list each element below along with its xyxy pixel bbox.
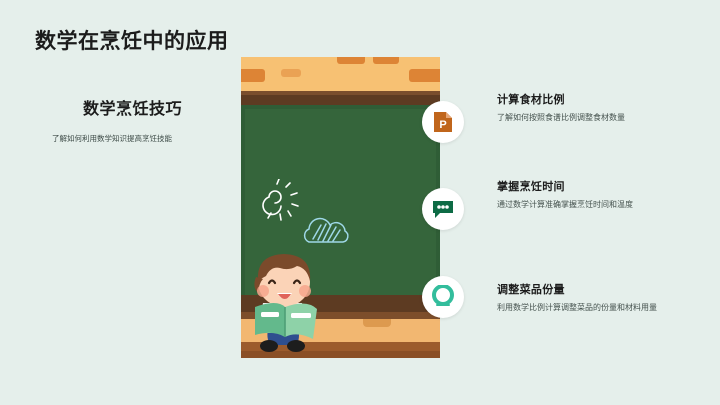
left-panel-description: 了解如何利用数学知识提高烹饪技能 (22, 133, 202, 144)
brick (409, 69, 440, 82)
bullet-title-3: 调整菜品份量 (497, 281, 720, 297)
page-title: 数学在烹饪中的应用 (35, 25, 229, 55)
classroom-illustration (241, 57, 440, 358)
bullet-desc-1: 了解如何按照食谱比例调整食材数量 (497, 112, 720, 124)
child-reading-illustration (247, 247, 339, 355)
left-panel: 数学烹饪技巧 (35, 100, 230, 121)
bullet-text-3: 调整菜品份量 利用数学比例计算调整菜品的份量和材料用量 (497, 281, 720, 314)
brick (337, 57, 365, 64)
chalk-cloud-icon (299, 215, 357, 249)
left-panel-heading: 数学烹饪技巧 (35, 100, 230, 121)
bullet-icon-1[interactable]: P (422, 101, 464, 143)
bullet-desc-3: 利用数学比例计算调整菜品的份量和材料用量 (497, 302, 720, 314)
brick (241, 69, 265, 82)
bullet-desc-2: 通过数学计算准确掌握烹饪时间和温度 (497, 199, 720, 211)
powerpoint-file-icon: P (433, 111, 453, 133)
bullet-icon-2[interactable] (422, 188, 464, 230)
presentation-slide: 数学在烹饪中的应用 数学烹饪技巧 了解如何利用数学知识提高烹饪技能 (0, 0, 720, 405)
bullet-text-1: 计算食材比例 了解如何按照食谱比例调整食材数量 (497, 91, 720, 124)
brick-wall (241, 57, 440, 91)
ledge-notch (363, 319, 391, 327)
bullet-title-1: 计算食材比例 (497, 91, 720, 107)
chat-bubble-icon (432, 199, 454, 219)
location-ring-icon (432, 285, 454, 309)
bullet-text-2: 掌握烹饪时间 通过数学计算准确掌握烹饪时间和温度 (497, 178, 720, 211)
brick (281, 69, 301, 77)
blackboard-top-frame-highlight (241, 91, 440, 95)
brick (373, 57, 399, 64)
bullet-title-2: 掌握烹饪时间 (497, 178, 720, 194)
svg-text:P: P (439, 119, 446, 131)
bullet-icon-3[interactable] (422, 276, 464, 318)
